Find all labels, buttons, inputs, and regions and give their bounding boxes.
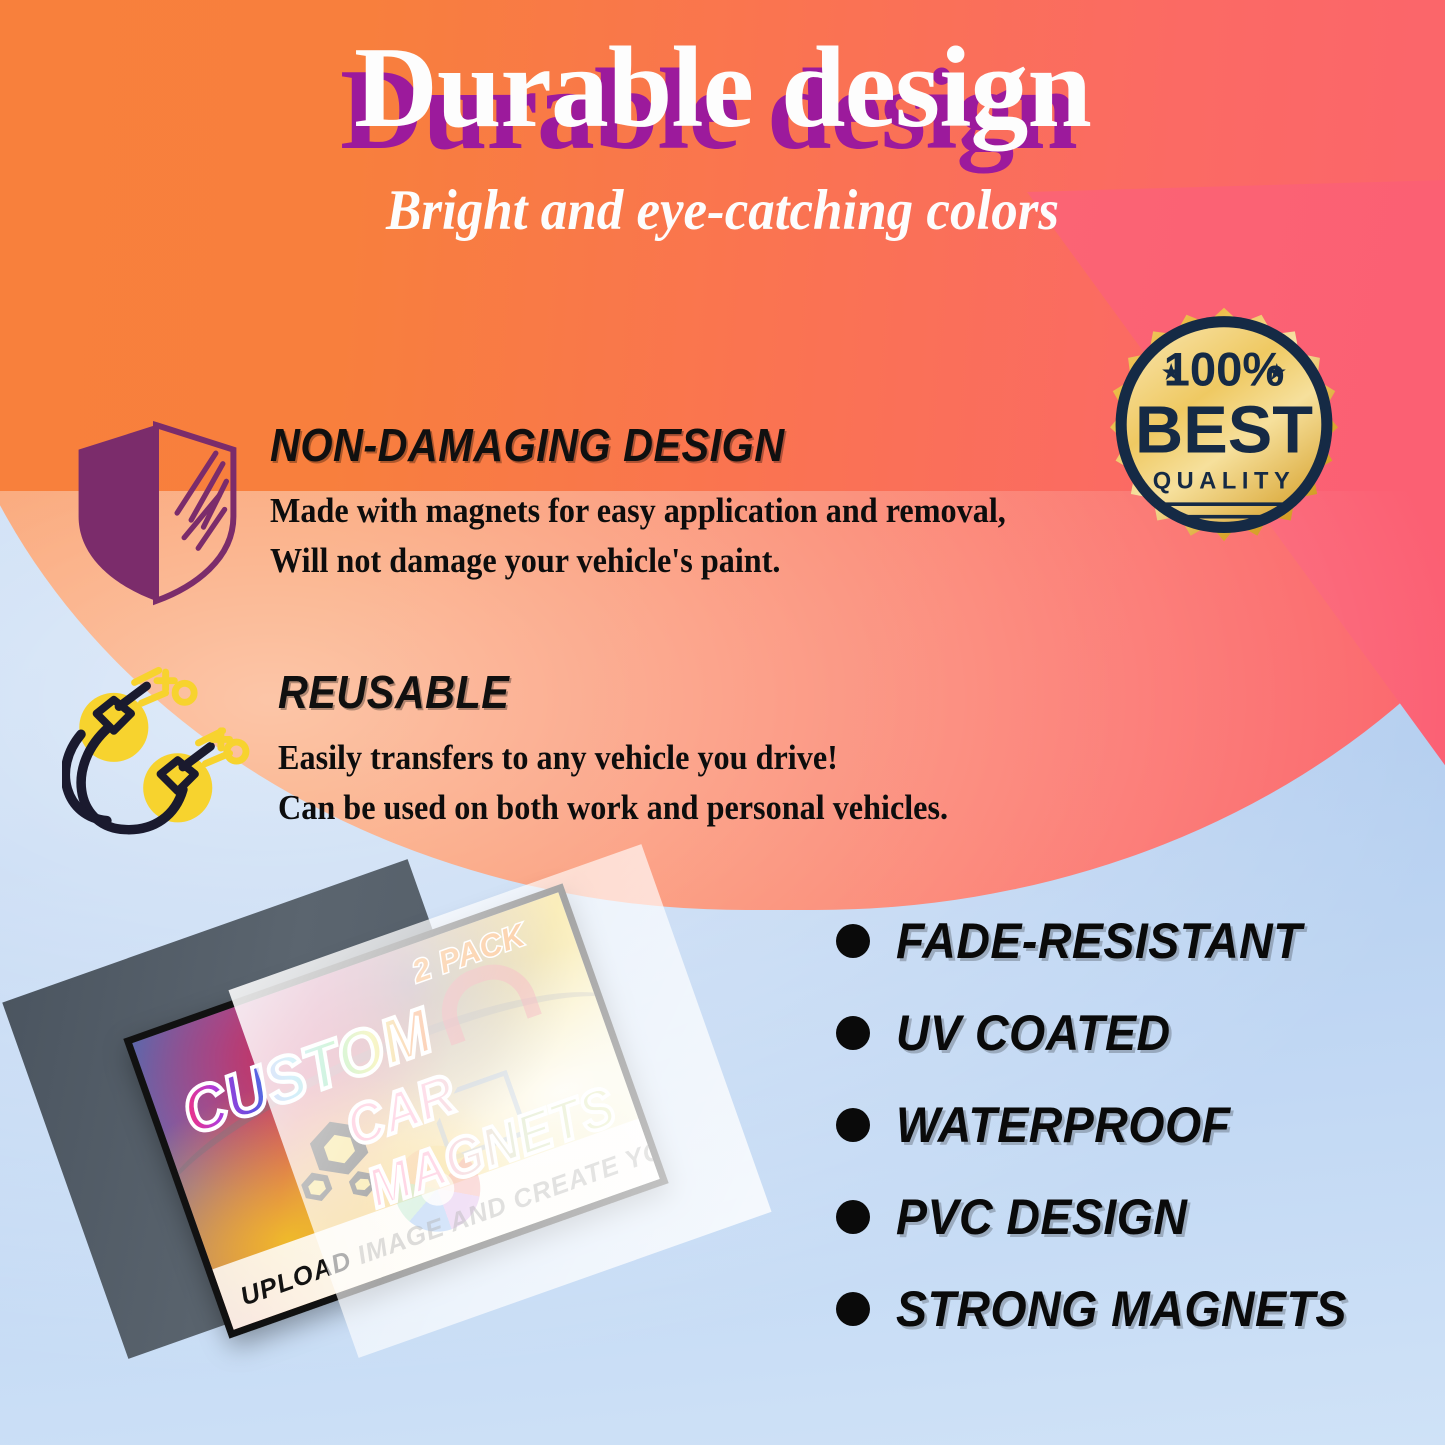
bullet-label: FADE-RESISTANT xyxy=(896,912,1302,970)
feature-heading-1: NON-DAMAGING DESIGN xyxy=(270,418,990,472)
magnet-icon-wrap xyxy=(62,665,252,850)
feature-line-2b: Can be used on both work and personal ve… xyxy=(278,783,948,833)
feature-text-1: NON-DAMAGING DESIGN Made with magnets fo… xyxy=(270,418,1070,585)
bullet-label: STRONG MAGNETS xyxy=(896,1280,1347,1338)
list-item: STRONG MAGNETS xyxy=(836,1280,1436,1338)
header: Durable design Durable design Bright and… xyxy=(0,0,1445,265)
feature-line-1b: Will not damage your vehicle's paint. xyxy=(270,536,1006,586)
feature-heading-2: REUSABLE xyxy=(278,665,933,719)
list-item: WATERPROOF xyxy=(836,1096,1436,1154)
shield-icon-wrap xyxy=(68,418,244,613)
feature-reusable: REUSABLE Easily transfers to any vehicle… xyxy=(62,665,1006,850)
list-item: UV COATED xyxy=(836,1004,1436,1062)
page-title: Durable design xyxy=(0,30,1445,146)
badge-quality-text: QUALITY xyxy=(1153,468,1296,494)
feature-line-2a: Easily transfers to any vehicle you driv… xyxy=(278,733,948,783)
magnet-icon xyxy=(62,665,252,845)
title-wrap: Durable design Durable design xyxy=(0,30,1445,180)
bullet-dot-icon xyxy=(836,1016,870,1050)
bullet-label: UV COATED xyxy=(896,1004,1171,1062)
list-item: FADE-RESISTANT xyxy=(836,912,1436,970)
product-infographic: Durable design Durable design Bright and… xyxy=(0,0,1445,1445)
product-image: 2 PACK CUSTOM CAR MAGNETS UPLOAD IMAGE A… xyxy=(45,900,750,1420)
bullet-dot-icon xyxy=(836,1200,870,1234)
bullet-dot-icon xyxy=(836,924,870,958)
feature-text-2: REUSABLE Easily transfers to any vehicle… xyxy=(278,665,1006,832)
badge-seal-icon: ★ ★ 100% BEST QUALITY xyxy=(1085,305,1363,583)
feature-line-1a: Made with magnets for easy application a… xyxy=(270,486,1006,536)
bullet-label: WATERPROOF xyxy=(896,1096,1230,1154)
badge-percent: 100% xyxy=(1164,344,1285,397)
bullet-label: PVC DESIGN xyxy=(896,1188,1187,1246)
feature-non-damaging-design: NON-DAMAGING DESIGN Made with magnets fo… xyxy=(68,418,1070,613)
shield-icon xyxy=(68,418,244,608)
bullet-dot-icon xyxy=(836,1108,870,1142)
page-subtitle: Bright and eye-catching colors xyxy=(51,178,1395,243)
bullet-dot-icon xyxy=(836,1292,870,1326)
list-item: PVC DESIGN xyxy=(836,1188,1436,1246)
best-quality-badge: ★ ★ 100% BEST QUALITY xyxy=(1085,305,1363,583)
badge-best-text: BEST xyxy=(1135,393,1313,467)
feature-bullet-list: FADE-RESISTANT UV COATED WATERPROOF PVC … xyxy=(836,912,1436,1372)
